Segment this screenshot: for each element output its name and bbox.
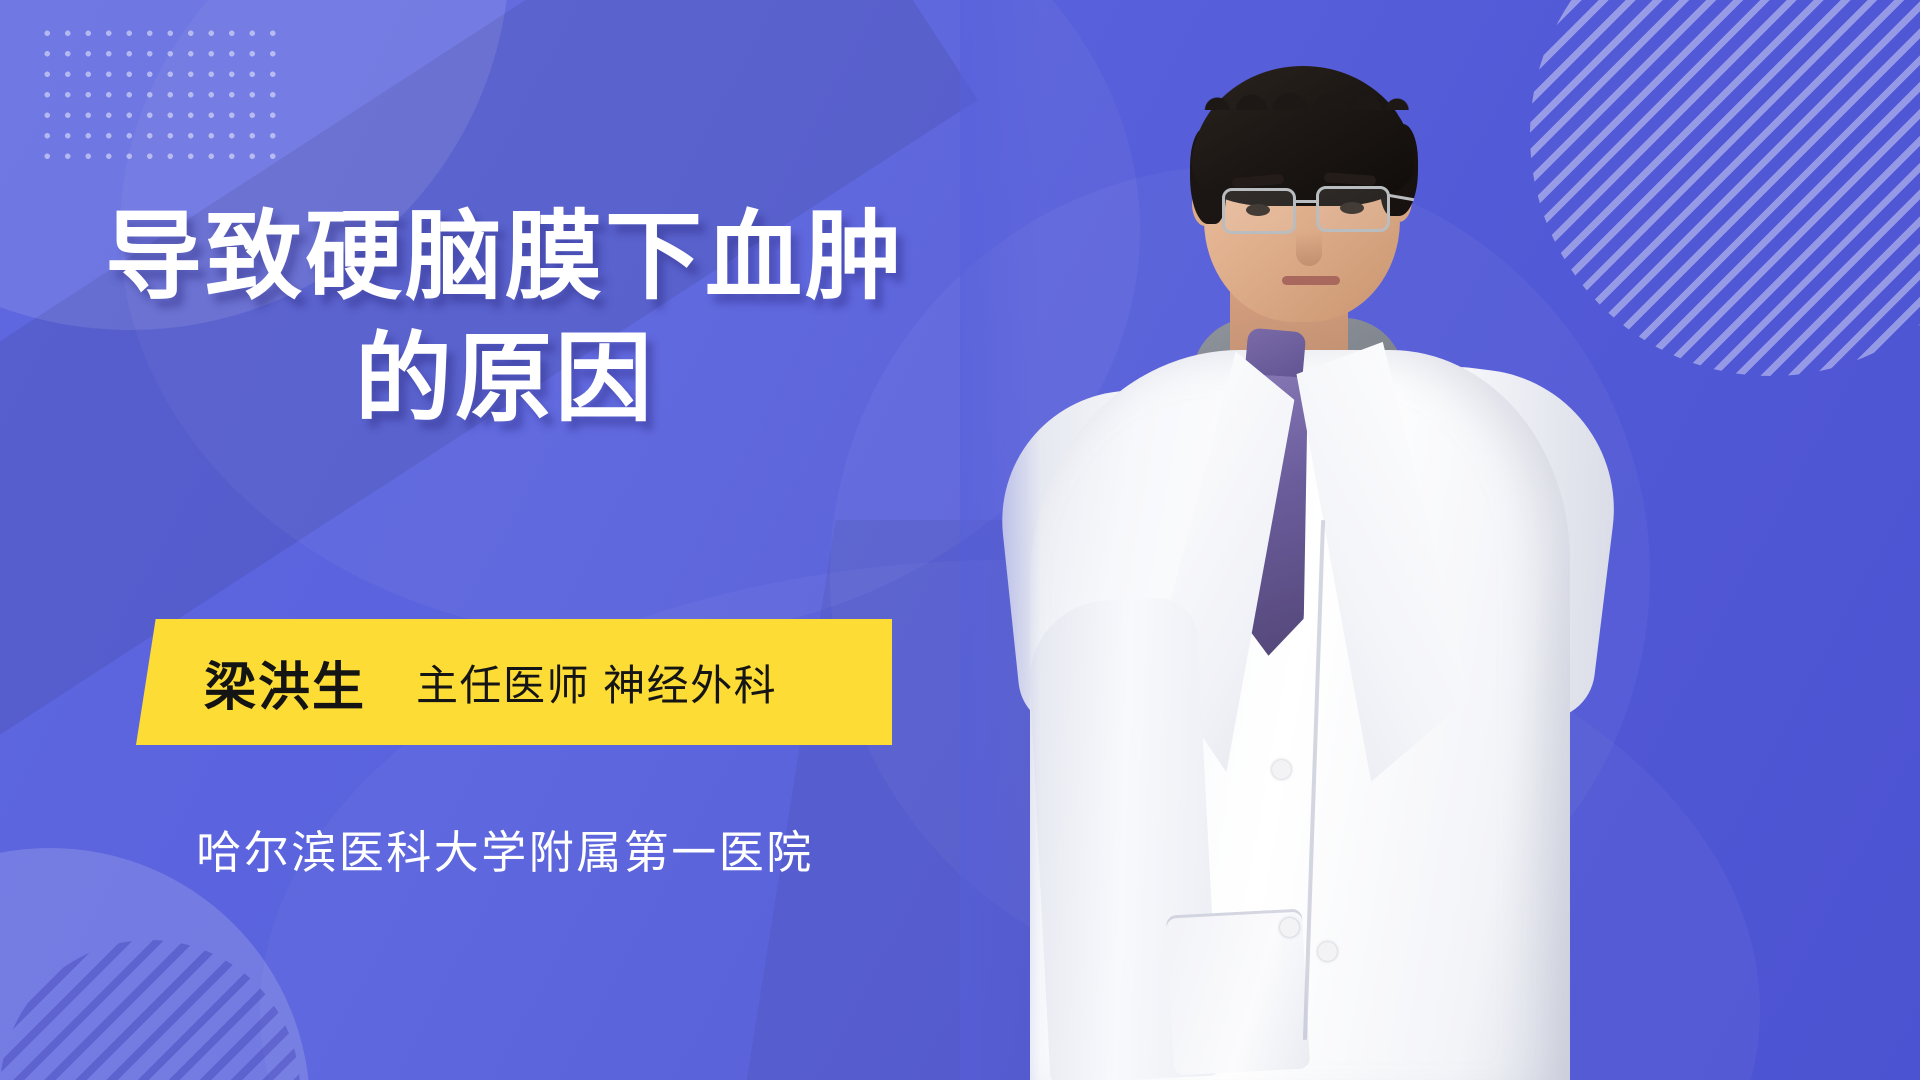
coat-button	[1318, 942, 1337, 961]
presenter-role: 主任医师 神经外科	[416, 652, 777, 713]
title-line-2: 的原因	[0, 318, 1010, 440]
nose	[1296, 232, 1322, 266]
presenter-banner: 梁洪生 主任医师 神经外科	[136, 619, 892, 745]
coat-button	[1272, 760, 1291, 779]
presenter-hospital: 哈尔滨医科大学附属第一医院	[0, 816, 1010, 881]
hair-texture	[1196, 58, 1410, 110]
glasses-bridge	[1296, 200, 1318, 203]
doctor-portrait	[960, 0, 1920, 1080]
title-card: 导致硬脑膜下血肿 的原因 梁洪生 主任医师 神经外科 哈尔滨医科大学附属第一医院	[0, 0, 1920, 1080]
title-line-1: 导致硬脑膜下血肿	[0, 196, 1010, 318]
mouth	[1282, 276, 1340, 285]
glasses-lens-right	[1316, 186, 1390, 232]
presenter-name: 梁洪生	[204, 645, 366, 720]
coat-button	[1280, 918, 1299, 937]
glasses-lens-left	[1222, 188, 1296, 234]
text-content: 导致硬脑膜下血肿 的原因 梁洪生 主任医师 神经外科 哈尔滨医科大学附属第一医院	[0, 0, 1060, 1080]
page-title: 导致硬脑膜下血肿 的原因	[0, 196, 1010, 440]
